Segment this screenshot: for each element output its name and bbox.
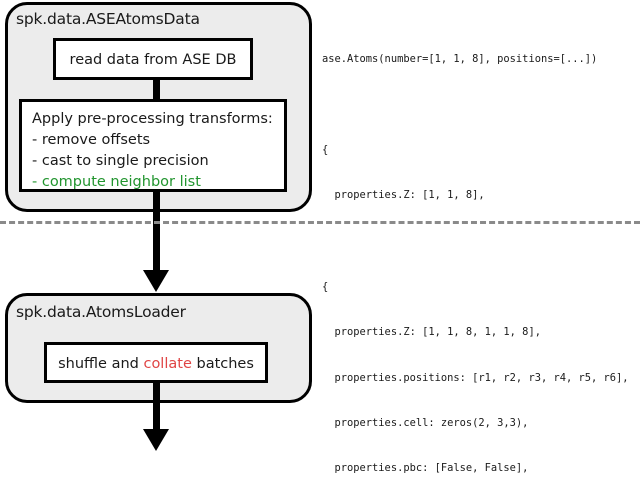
connector-read-to-transforms bbox=[153, 79, 160, 101]
arrow-head-loader-output bbox=[143, 429, 169, 451]
transform-list: Apply pre-processing transforms: - remov… bbox=[32, 109, 273, 193]
step-collate-label: shuffle and collate batches bbox=[47, 356, 265, 372]
transform-header: Apply pre-processing transforms: bbox=[32, 109, 273, 130]
arrow-shaft-loader-output bbox=[153, 382, 160, 431]
group-title-atoms-loader: spk.data.AtomsLoader bbox=[16, 303, 186, 321]
arrow-shaft-ase-to-loader bbox=[153, 191, 160, 273]
code-signature-line: ase.Atoms(number=[1, 1, 8], positions=[.… bbox=[322, 52, 640, 67]
code-property-line: properties.cell: zeros(2, 3,3), bbox=[322, 416, 640, 431]
collate-label-prefix: shuffle and bbox=[58, 356, 143, 372]
step-read-data-label: read data from ASE DB bbox=[56, 52, 250, 68]
section-divider bbox=[0, 221, 640, 224]
group-title-ase-atoms-data: spk.data.ASEAtomsData bbox=[16, 10, 200, 28]
code-property-line: properties.positions: [r1, r2, r3, r4, r… bbox=[322, 371, 640, 386]
step-collate-box: shuffle and collate batches bbox=[44, 342, 268, 383]
arrow-head-ase-to-loader bbox=[143, 270, 169, 292]
code-open-brace: { bbox=[322, 143, 640, 158]
code-property-line: properties.pbc: [False, False], bbox=[322, 461, 640, 476]
code-block-single-structure: ase.Atoms(number=[1, 1, 8], positions=[.… bbox=[322, 22, 640, 218]
step-read-data-box: read data from ASE DB bbox=[53, 38, 253, 80]
transform-item-remove-offsets: - remove offsets bbox=[32, 130, 273, 151]
code-property-line: properties.Z: [1, 1, 8], bbox=[322, 188, 640, 203]
transform-item-compute-neighbor-list: - compute neighbor list bbox=[32, 172, 273, 193]
code-block-batched-structure: { properties.Z: [1, 1, 8, 1, 1, 8], prop… bbox=[322, 250, 640, 477]
transform-item-cast-single-precision: - cast to single precision bbox=[32, 151, 273, 172]
flow-diagram: spk.data.ASEAtomsData read data from ASE… bbox=[0, 0, 320, 477]
collate-label-suffix: batches bbox=[192, 356, 254, 372]
step-transforms-box: Apply pre-processing transforms: - remov… bbox=[19, 99, 287, 192]
code-spacer bbox=[322, 97, 640, 112]
code-property-line: properties.Z: [1, 1, 8, 1, 1, 8], bbox=[322, 325, 640, 340]
code-open-brace: { bbox=[322, 280, 640, 295]
collate-label-highlight: collate bbox=[143, 356, 191, 372]
